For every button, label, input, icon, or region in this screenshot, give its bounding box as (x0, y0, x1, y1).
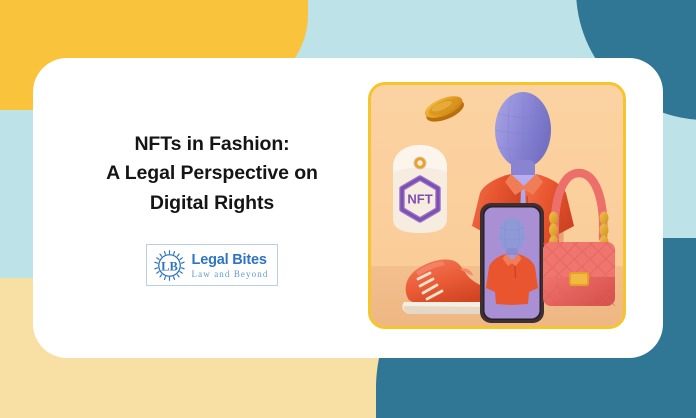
brand-tagline: Law and Beyond (192, 270, 269, 279)
title-line-2: A Legal Perspective on (106, 159, 318, 189)
title-line-3: Digital Rights (106, 189, 318, 219)
coin-icon (421, 91, 467, 125)
brand-text: Legal Bites Law and Beyond (192, 253, 269, 280)
svg-text:LB: LB (161, 260, 178, 274)
brand-logo[interactable]: LB Legal Bites Law and Beyond (146, 244, 279, 286)
svg-text:NFT: NFT (407, 192, 432, 207)
handbag-icon (538, 163, 620, 315)
text-column: NFTs in Fashion: A Legal Perspective on … (33, 130, 377, 287)
legal-bites-badge-icon: LB (154, 250, 185, 281)
featured-image-canvas: NFTs in Fashion: A Legal Perspective on … (0, 0, 696, 418)
title-line-1: NFTs in Fashion: (106, 130, 318, 160)
illustration-panel: NFT (368, 82, 626, 329)
brand-name: Legal Bites (192, 253, 269, 268)
price-tag-icon: NFT (388, 143, 452, 235)
page-title: NFTs in Fashion: A Legal Perspective on … (106, 130, 318, 219)
smartphone-icon (479, 202, 545, 324)
featured-illustration: NFT (368, 82, 626, 329)
